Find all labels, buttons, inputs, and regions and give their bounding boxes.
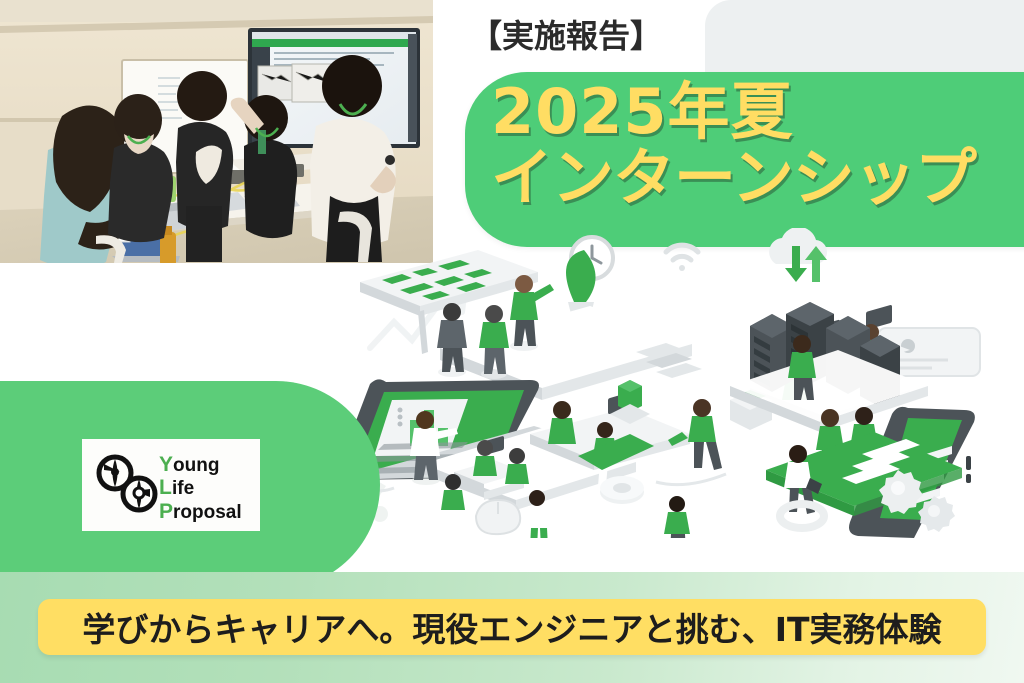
title-line-2: インターンシップ <box>491 148 1024 208</box>
footer-band: 学びからキャリアへ。現役エンジニアと挑む、IT実務体験 <box>0 572 1024 683</box>
logo-word-life: ife <box>172 478 194 499</box>
report-tag-label: 【実施報告】 <box>470 20 662 52</box>
tagline-pill: 学びからキャリアへ。現役エンジニアと挑む、IT実務体験 <box>38 599 986 655</box>
logo-initial-l: L <box>159 476 172 499</box>
isometric-workspace-illustration: .g1{fill:#3aad4e}.g2{fill:#55c16a}.g3{fi… <box>330 228 1024 538</box>
poster-canvas: 【実施報告】 2025年夏 インターンシップ .g1{fill:#3aad4e}… <box>0 0 1024 683</box>
main-title-banner: 2025年夏 インターンシップ <box>465 72 1024 247</box>
logo-word-proposal: roposal <box>173 502 242 523</box>
logo-initial-p: P <box>159 500 173 523</box>
grey-decorative-panel <box>705 0 1024 76</box>
tagline-text: 学びからキャリアへ。現役エンジニアと挑む、IT実務体験 <box>38 599 986 655</box>
title-line-1: 2025年夏 <box>491 82 1024 142</box>
young-life-proposal-logo: Y oung L ife P roposal <box>82 439 260 531</box>
logo-word-young: oung <box>173 455 219 476</box>
internship-photo <box>0 0 433 263</box>
logo-initial-y: Y <box>159 453 173 476</box>
